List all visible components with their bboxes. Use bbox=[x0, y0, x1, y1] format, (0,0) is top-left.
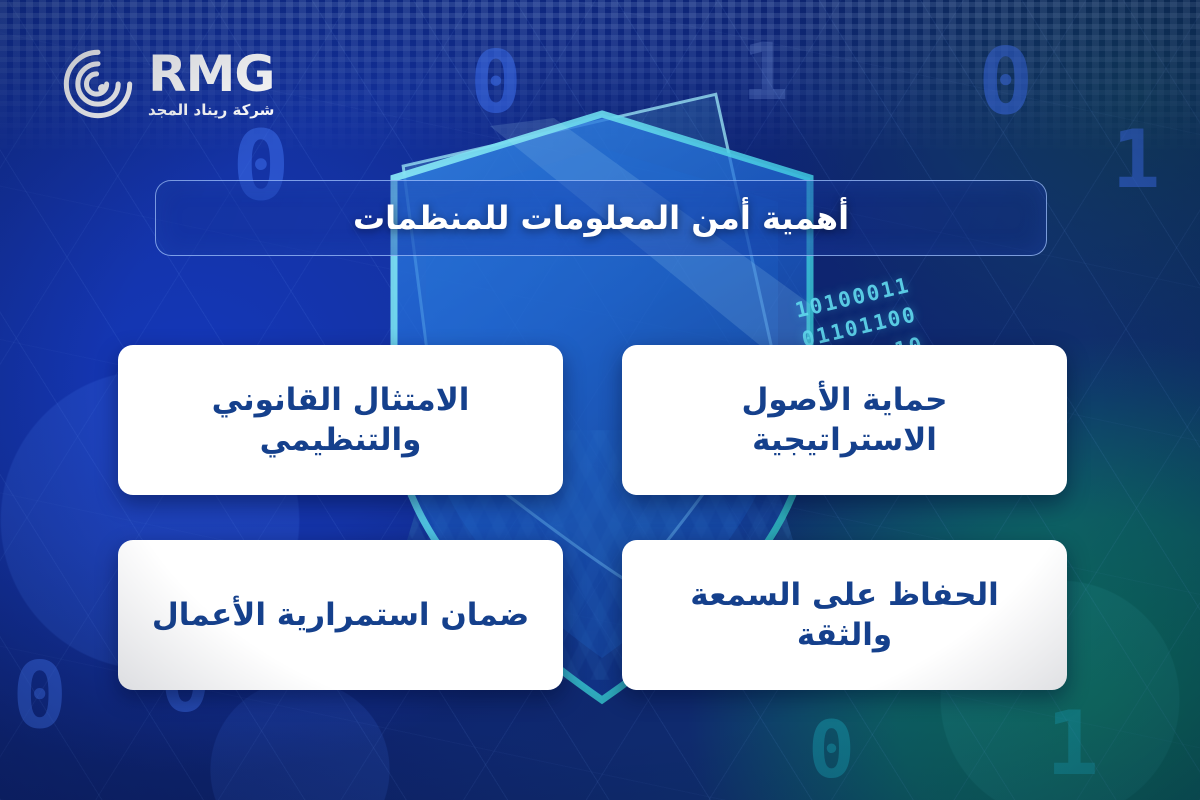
brand-logo[interactable]: RMG شركة ريناد المجد bbox=[62, 48, 274, 120]
card-label: الحفاظ على السمعة والثقة bbox=[648, 575, 1041, 656]
rmg-spiral-icon bbox=[62, 48, 134, 120]
card-label: الامتثال القانوني والتنظيمي bbox=[144, 380, 537, 461]
card-label: حماية الأصول الاستراتيجية bbox=[648, 380, 1041, 461]
ghost-digit-7: 1 bbox=[1046, 700, 1099, 788]
page-title: أهمية أمن المعلومات للمنظمات bbox=[353, 199, 849, 237]
brand-tagline: شركة ريناد المجد bbox=[148, 101, 274, 119]
card-strategic-assets[interactable]: حماية الأصول الاستراتيجية bbox=[622, 345, 1067, 495]
card-business-continuity[interactable]: ضمان استمرارية الأعمال bbox=[118, 540, 563, 690]
ghost-digit-4: 1 bbox=[1112, 120, 1160, 200]
infographic-canvas: 0 0 1 0 1 0 0 1 0 bbox=[0, 0, 1200, 800]
ghost-digit-3: 0 bbox=[978, 36, 1033, 128]
card-reputation-trust[interactable]: الحفاظ على السمعة والثقة bbox=[622, 540, 1067, 690]
title-banner: أهمية أمن المعلومات للمنظمات bbox=[155, 180, 1047, 256]
card-label: ضمان استمرارية الأعمال bbox=[152, 595, 529, 635]
card-legal-compliance[interactable]: الامتثال القانوني والتنظيمي bbox=[118, 345, 563, 495]
brand-name: RMG bbox=[148, 50, 274, 98]
ghost-digit-5: 0 bbox=[12, 650, 67, 742]
